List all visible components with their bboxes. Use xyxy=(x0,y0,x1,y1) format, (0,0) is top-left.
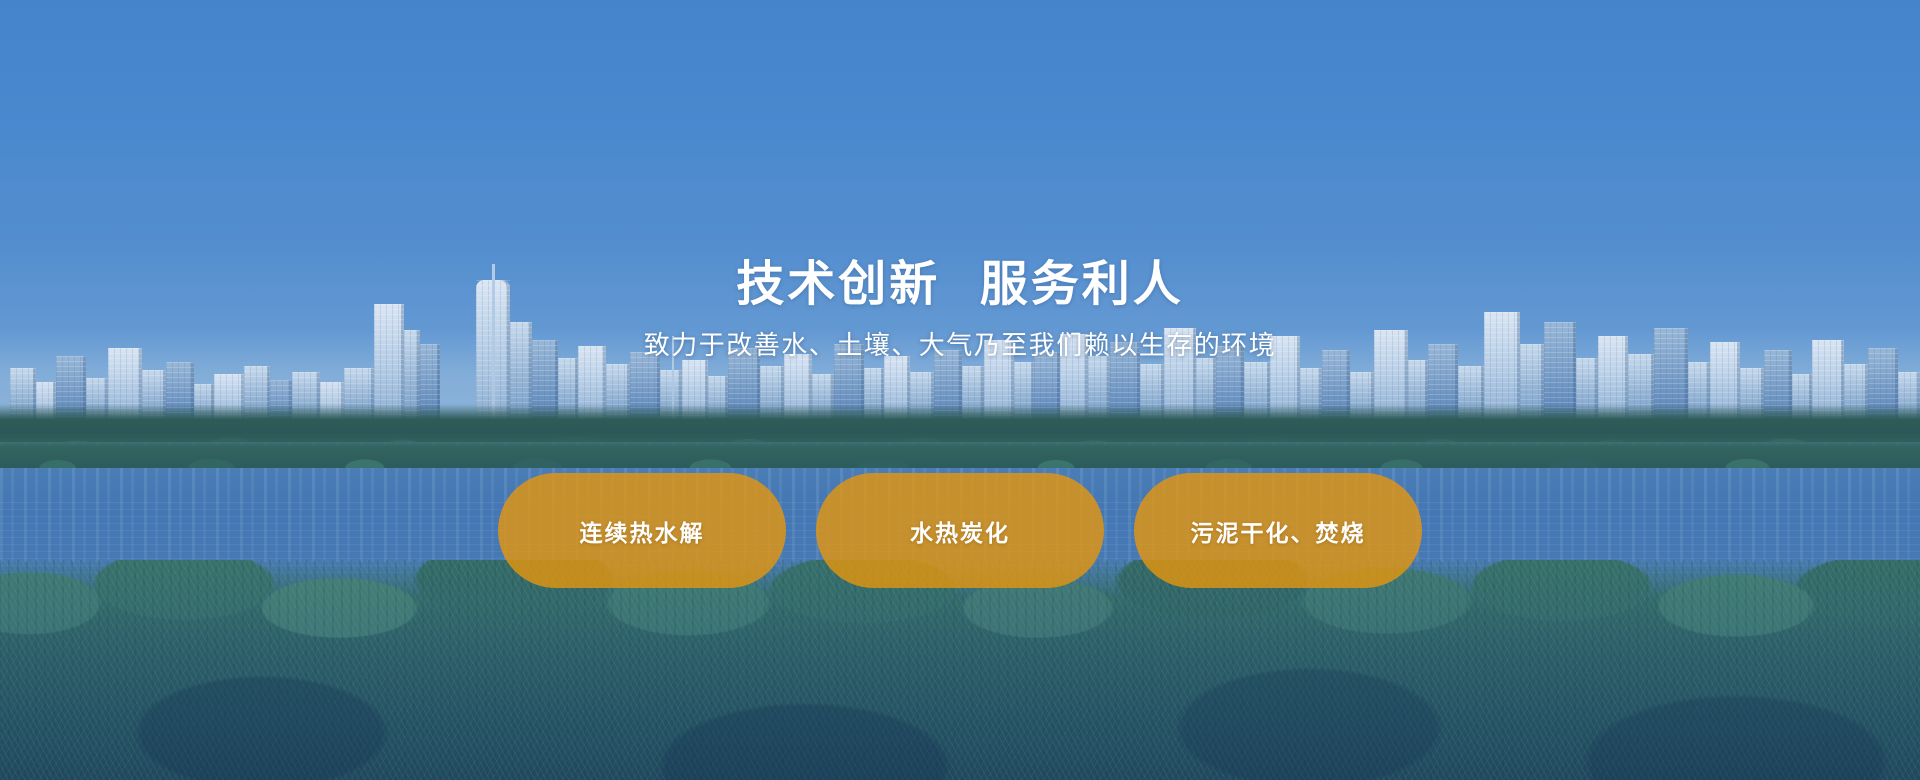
hero-button-group: 连续热水解 水热炭化 污泥干化、焚烧 xyxy=(0,473,1920,588)
foreground-mangrove-layer xyxy=(0,560,1920,780)
page-title: 技术创新 服务利人 xyxy=(0,258,1920,312)
hero-copy: 技术创新 服务利人 致力于改善水、土壤、大气乃至我们赖以生存的环境 xyxy=(0,258,1920,364)
foliage-shadows xyxy=(0,560,1920,780)
hero-banner: 技术创新 服务利人 致力于改善水、土壤、大气乃至我们赖以生存的环境 连续热水解 … xyxy=(0,0,1920,780)
pill-button-sludge-drying-incineration[interactable]: 污泥干化、焚烧 xyxy=(1134,473,1422,588)
hero-subtitle: 致力于改善水、土壤、大气乃至我们赖以生存的环境 xyxy=(0,330,1920,364)
pill-button-hydrothermal-carbonization[interactable]: 水热炭化 xyxy=(816,473,1104,588)
pill-button-continuous-thermal-hydrolysis[interactable]: 连续热水解 xyxy=(498,473,786,588)
mid-mangrove-layer xyxy=(0,432,1920,468)
